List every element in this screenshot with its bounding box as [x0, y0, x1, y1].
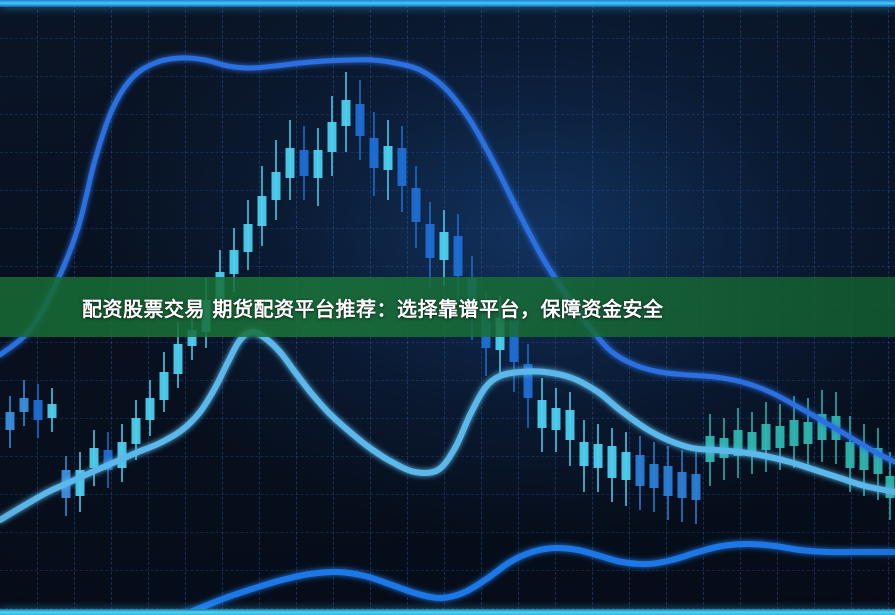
candle-body — [314, 150, 323, 178]
candle-body — [762, 424, 771, 450]
candle-body — [636, 455, 645, 486]
candle-body — [846, 442, 855, 468]
candle-body — [398, 148, 407, 186]
candle-body — [664, 466, 673, 496]
bottom-accent-bar — [0, 609, 895, 615]
candle-body — [132, 418, 141, 444]
candle-body — [328, 122, 337, 152]
candle-body — [804, 422, 813, 444]
candle-body — [244, 224, 253, 252]
candle-body — [384, 146, 393, 170]
candle-body — [300, 150, 309, 176]
candle-body — [370, 138, 379, 168]
candle-body — [230, 250, 239, 274]
stock-chart-banner: 配资股票交易 期货配资平台推荐：选择靠谱平台，保障资金安全 — [0, 0, 895, 615]
candle-body — [160, 372, 169, 400]
banner-headline: 配资股票交易 期货配资平台推荐：选择靠谱平台，保障资金安全 — [82, 293, 663, 322]
candle-body — [34, 400, 43, 420]
candle-body — [580, 442, 589, 466]
candle-body — [594, 444, 603, 468]
candle-body — [426, 224, 435, 258]
candle-body — [258, 196, 267, 226]
candle-body — [678, 472, 687, 498]
candle-body — [608, 446, 617, 478]
candle-body — [454, 236, 463, 276]
candle-body — [90, 448, 99, 468]
candle-body — [886, 476, 895, 498]
headline-overlay-band: 配资股票交易 期货配资平台推荐：选择靠谱平台，保障资金安全 — [0, 277, 895, 337]
candle-body — [776, 426, 785, 448]
candle-body — [538, 400, 547, 428]
candle-body — [748, 432, 757, 452]
candle-body — [566, 410, 575, 440]
candle-body — [146, 398, 155, 420]
candle-body — [174, 344, 183, 374]
candle-body — [20, 398, 29, 412]
candle-body — [552, 408, 561, 430]
top-accent-bar — [0, 0, 895, 7]
candle-body — [342, 100, 351, 126]
candle-body — [272, 172, 281, 200]
candle-body — [692, 474, 701, 500]
candle-body — [790, 420, 799, 446]
candle-body — [412, 188, 421, 222]
candle-body — [622, 452, 631, 480]
candle-body — [440, 232, 449, 260]
candle-body — [650, 464, 659, 488]
candle-body — [286, 148, 295, 178]
moving-average-line — [0, 544, 895, 615]
candle-body — [356, 104, 365, 136]
candle-body — [6, 412, 15, 430]
candle-body — [48, 404, 57, 418]
